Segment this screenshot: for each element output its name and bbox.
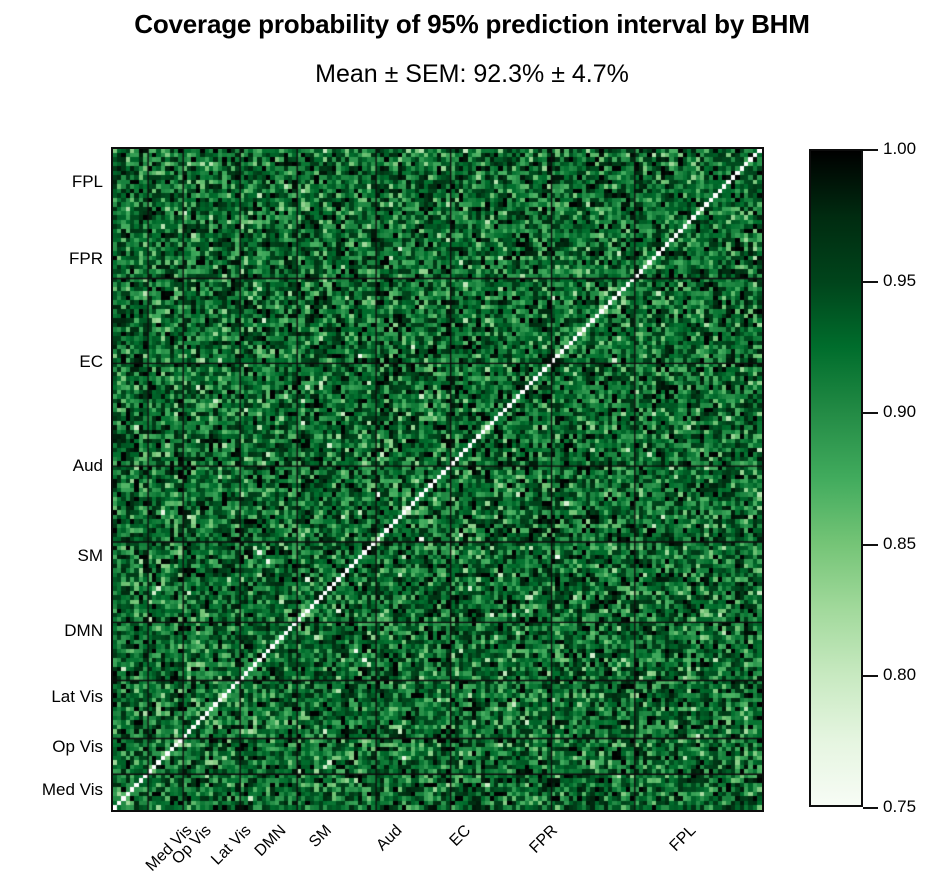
colorbar[interactable] [809, 149, 863, 807]
colorbar-tick-label: 0.90 [883, 402, 916, 422]
x-axis-tick-label: Lat Vis [208, 822, 255, 869]
colorbar-tick-label: 0.85 [883, 534, 916, 554]
x-axis-tick-label: FPR [526, 822, 561, 857]
colorbar-tick-label: 1.00 [883, 139, 916, 159]
colorbar-tick-mark [863, 412, 878, 414]
colorbar-ticks: 1.000.950.900.850.800.75 [863, 0, 944, 890]
colorbar-tick-label: 0.80 [883, 665, 916, 685]
x-axis-labels: Med VisOp VisLat VisDMNSMAudECFPRFPL [0, 0, 944, 890]
colorbar-gradient [809, 149, 863, 807]
colorbar-tick-mark [863, 149, 878, 151]
x-axis-tick-label: DMN [252, 822, 290, 860]
colorbar-tick-mark [863, 807, 878, 809]
colorbar-tick-mark [863, 675, 878, 677]
colorbar-tick-label: 0.75 [883, 797, 916, 817]
colorbar-tick-mark [863, 544, 878, 546]
figure-canvas: Coverage probability of 95% prediction i… [0, 0, 944, 890]
x-axis-tick-label: EC [447, 822, 475, 850]
colorbar-tick-label: 0.95 [883, 271, 916, 291]
x-axis-tick-label: SM [306, 822, 336, 852]
x-axis-tick-label: Aud [373, 822, 406, 855]
colorbar-tick-mark [863, 281, 878, 283]
x-axis-tick-label: FPL [667, 822, 700, 855]
